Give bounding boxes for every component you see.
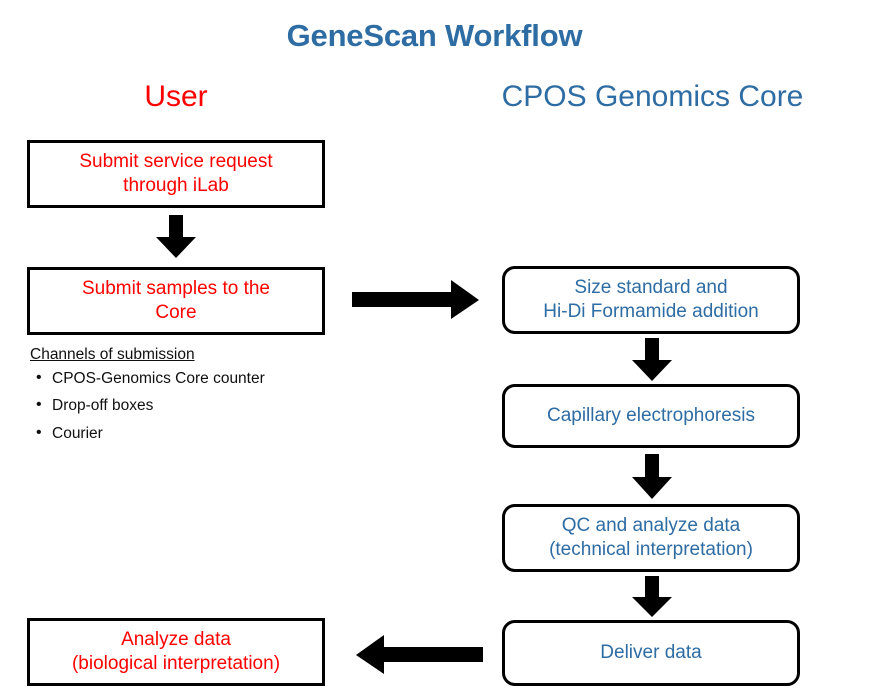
box-capillary-electrophoresis-label: Capillary electrophoresis [537,404,765,428]
box-qc-analyze-data-label: QC and analyze data (technical interpret… [539,514,763,562]
column-heading-user: User [27,80,325,114]
box-capillary-electrophoresis[interactable]: Capillary electrophoresis [502,384,800,448]
list-item: Courier [30,422,330,445]
box-submit-samples-to-core-label: Submit samples to the Core [72,277,280,325]
box-analyze-data-biological[interactable]: Analyze data (biological interpretation) [27,618,325,686]
box-analyze-data-biological-label: Analyze data (biological interpretation) [62,628,290,676]
box-qc-analyze-data-technical[interactable]: QC and analyze data (technical interpret… [502,504,800,572]
channels-of-submission: Channels of submission CPOS-Genomics Cor… [30,346,330,449]
workflow-diagram: GeneScan Workflow User CPOS Genomics Cor… [0,0,869,694]
list-item: Drop-off boxes [30,394,330,417]
box-submit-service-request-label: Submit service request through iLab [69,150,282,198]
arrow-down-icon [631,338,673,382]
channels-of-submission-list: CPOS-Genomics Core counter Drop-off boxe… [30,367,330,445]
box-submit-service-request[interactable]: Submit service request through iLab [27,140,325,208]
channels-of-submission-title: Channels of submission [30,346,330,364]
box-submit-samples-to-core[interactable]: Submit samples to the Core [27,267,325,335]
box-deliver-data[interactable]: Deliver data [502,620,800,686]
box-size-standard-hidi-formamide[interactable]: Size standard and Hi-Di Formamide additi… [502,266,800,334]
arrow-right-icon [352,280,480,320]
arrow-down-icon [631,454,673,500]
box-size-standard-label: Size standard and Hi-Di Formamide additi… [533,276,768,324]
page-title: GeneScan Workflow [0,18,869,54]
list-item: CPOS-Genomics Core counter [30,367,330,390]
arrow-down-icon [631,576,673,618]
box-deliver-data-label: Deliver data [590,641,711,665]
column-heading-cpos-genomics-core: CPOS Genomics Core [480,80,825,114]
arrow-down-icon [155,215,197,259]
arrow-left-icon [355,635,483,675]
